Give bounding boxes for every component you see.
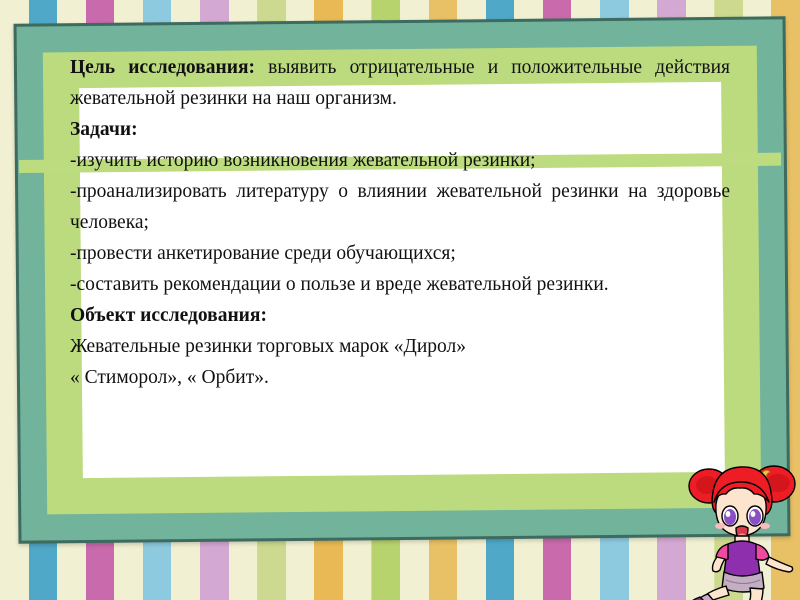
goal-paragraph: Цель исследования: выявить отрицательные… (70, 52, 730, 114)
task-item-2: -проанализировать литературу о влиянии ж… (70, 176, 730, 238)
goal-label: Цель исследования: (70, 57, 255, 78)
task-item-1: -изучить историю возникновения жевательн… (70, 145, 730, 176)
slide-text-content: Цель исследования: выявить отрицательные… (70, 52, 730, 492)
object-line-1: Жевательные резинки торговых марок «Диро… (70, 331, 730, 362)
slide-canvas: Цель исследования: выявить отрицательные… (0, 0, 800, 600)
object-heading: Объект исследования: (70, 300, 730, 331)
cartoon-girl-sitting-icon (688, 452, 796, 600)
object-line-2: « Стиморол», « Орбит». (70, 362, 730, 393)
tasks-heading: Задачи: (70, 114, 730, 145)
task-item-3: -провести анкетирование среди обучающихс… (70, 238, 730, 269)
task-item-4: -составить рекомендации о пользе и вреде… (70, 269, 730, 300)
